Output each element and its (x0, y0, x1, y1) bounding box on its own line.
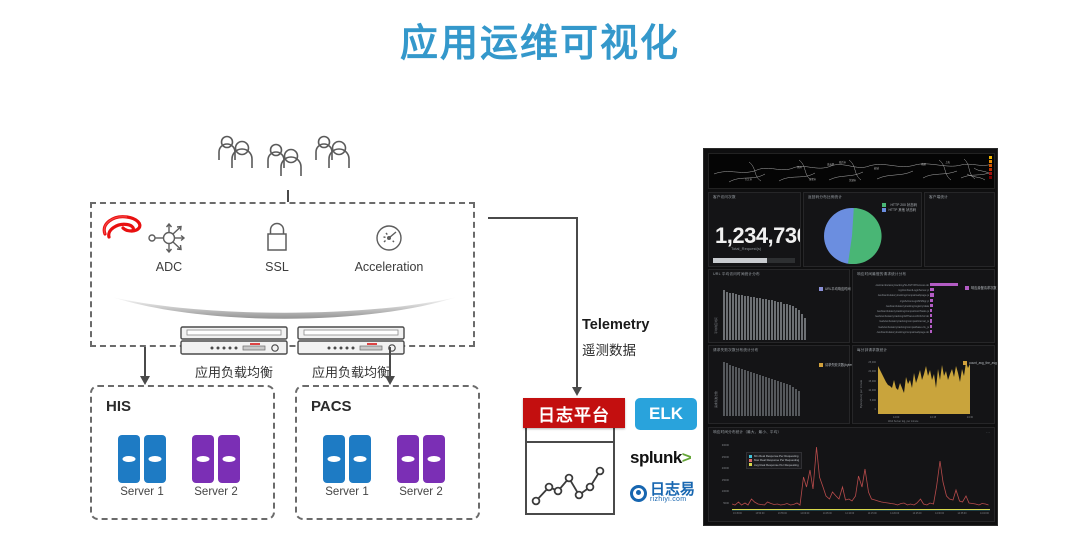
panel-response-time-title: 响应时间分布统计（最大、最小、平均） (713, 430, 781, 435)
group-pacs: PACS Server 1 Server 2 (295, 385, 480, 520)
panel-top-url-title: 响应时间最慢的请求统计分布 (857, 272, 906, 277)
telemetry-section: Telemetry 遥测数据 日志平台 ELK splunk> 日志易 rizh… (488, 105, 703, 535)
svg-text:上海: 上海 (945, 160, 950, 164)
log-chart-card (525, 425, 615, 515)
panel-error-dist[interactable]: 请求失败次数分布统计分布 请求失败次数 请求失败次数(bytes) (708, 345, 850, 424)
error-dist-bars (723, 360, 800, 416)
svg-text:盐城: 盐城 (874, 166, 879, 170)
dashboard-map-panel[interactable]: 九江市徐州连云港 临沂市盐城合肥市 南通上海芜湖市 (708, 153, 995, 189)
acceleration-gauge-icon (314, 218, 464, 258)
telemetry-arrowhead (572, 387, 582, 396)
feature-acceleration: Acceleration (314, 218, 464, 274)
group-pacs-title: PACS (311, 398, 352, 415)
pacs-server-1: Server 1 (319, 435, 375, 498)
svg-text:徐州: 徐州 (797, 165, 802, 169)
server-icon (144, 435, 166, 483)
log-dashboard-screenshot[interactable]: 九江市徐州连云港 临沂市盐城合肥市 南通上海芜湖市 客户访问次数 1,234,7… (703, 148, 998, 526)
traffic-volume-yticks: 25,00020,00015,00010,0005,0000 (863, 358, 876, 414)
svg-text:合肥市: 合肥市 (809, 177, 817, 181)
connector-pacs (389, 347, 391, 379)
elk-badge[interactable]: ELK (635, 398, 697, 430)
panel-scrollbar[interactable] (713, 258, 795, 263)
connector-his-arrowhead (140, 376, 150, 385)
telemetry-line-vertical (576, 217, 578, 389)
response-time-legend: Min Real Response Per Requesting Max Rea… (746, 452, 802, 469)
funnel-shape (112, 296, 457, 330)
status-share-pie-chart (821, 205, 883, 267)
panel-response-time-more-icon[interactable]: ··· (986, 430, 990, 435)
group-his: HIS Server 1 Server 2 (90, 385, 275, 520)
url-access-legend: URL平均响应时间 (819, 286, 851, 291)
panel-url-access-title: URL 平均访问时间统计分布 (713, 272, 760, 277)
panel-total-requests-title: 客户访问次数 (713, 195, 736, 200)
panel-traffic-volume-title: 每分钟请求数统计 (857, 348, 887, 353)
server-icon (192, 435, 214, 483)
response-time-yticks: 30000250002000015000100005000 (714, 440, 729, 509)
top-url-legend: 响应最慢请求次数 (965, 285, 997, 290)
server-icon (218, 435, 240, 483)
his-server-1-label: Server 1 (114, 486, 170, 498)
adc-container: ADC SSL (90, 202, 475, 347)
server-appliance-icon (180, 326, 288, 356)
splunk-chevron-icon: > (682, 448, 691, 467)
his-server-2-label: Server 2 (188, 486, 244, 498)
panel-response-time[interactable]: 响应时间分布统计（最大、最小、平均） ··· 30000250002000015… (708, 427, 995, 522)
log-platform-badge[interactable]: 日志平台 (523, 398, 625, 428)
panel-client-stats[interactable]: 客户端统计 (924, 192, 995, 267)
feature-adc: ADC (114, 218, 224, 274)
response-time-line-chart (732, 440, 990, 512)
line-chart-window-icon (527, 443, 609, 511)
top-url-category-labels: /web/ambulatorytracking/SLASTOP/Access.d… (857, 283, 929, 335)
map-color-legend (989, 156, 992, 180)
svg-text:临沂市: 临沂市 (839, 160, 847, 164)
panel-client-stats-title: 客户端统计 (929, 195, 948, 200)
connector-pacs-arrowhead (385, 376, 395, 385)
users-icon (215, 134, 355, 189)
url-access-ylabel: 平均响应时间 (714, 317, 718, 334)
pacs-server-2: Server 2 (393, 435, 449, 498)
page-title: 应用运维可视化 (0, 20, 1080, 68)
svg-text:连云港: 连云港 (827, 162, 835, 166)
panel-traffic-volume[interactable]: 每分钟请求数统计 Bytes(sum) per minute 25,00020,… (852, 345, 995, 424)
rizhiyi-mark-icon (630, 485, 647, 502)
response-time-xticks: 13:45:0013:50:0013:55:0014:00:0014:05:00… (733, 513, 989, 515)
his-server-1: Server 1 (114, 435, 170, 498)
pacs-server-2-label: Server 2 (393, 486, 449, 498)
telemetry-label-zh: 遥测数据 (582, 339, 636, 359)
url-access-bars (723, 284, 806, 340)
server-icon (118, 435, 140, 483)
adc-feature-row: ADC SSL (92, 218, 477, 288)
error-dist-ylabel: 请求失败次数 (714, 391, 718, 408)
status-share-legend: HTTP 200 状态码 HTTP 其他 状态码 (882, 203, 917, 213)
feature-acceleration-label: Acceleration (314, 260, 464, 274)
top-url-bars (930, 283, 958, 335)
slide-root: 应用运维可视化 (0, 0, 1080, 541)
rizhiyi-logo: 日志易 rizhiyi.com (630, 483, 695, 503)
server-icon (397, 435, 419, 483)
panel-status-share-title: 返回码分布比例统计 (808, 195, 842, 200)
panel-url-access[interactable]: URL 平均访问时间统计分布 平均响应时间 URL平均响应时间 (708, 269, 850, 343)
traffic-volume-legend: count_avg_the_avg... (963, 361, 998, 365)
panel-status-share[interactable]: 返回码分布比例统计 HTTP 200 状态码 HTTP 其他 状态码 (803, 192, 922, 267)
splunk-logo-text: splunk (630, 448, 682, 467)
load-balancer-1-label: 应用负载均衡 (180, 362, 288, 381)
panel-error-dist-title: 请求失败次数分布统计分布 (713, 348, 759, 353)
server-icon (423, 435, 445, 483)
traffic-volume-xticks: 14:0014:1514:30 (893, 416, 973, 419)
total-requests-caption: Total_Request(s) (731, 246, 761, 251)
telemetry-line-horizontal (488, 217, 578, 219)
traffic-volume-xlabel: Web Server log, per minute (888, 420, 918, 423)
his-server-2: Server 2 (188, 435, 244, 498)
pacs-server-1-label: Server 1 (319, 486, 375, 498)
telemetry-label-en: Telemetry (582, 317, 649, 333)
load-balancer-1: 应用负载均衡 (180, 326, 288, 381)
error-dist-legend: 请求失败次数(bytes) (819, 362, 854, 367)
svg-text:九江市: 九江市 (745, 177, 753, 181)
splunk-logo: splunk> (630, 448, 691, 468)
rizhiyi-logo-text: 日志易 (650, 483, 695, 496)
svg-text:芜湖市: 芜湖市 (849, 178, 857, 182)
log-chart-card-titlebar (527, 427, 613, 443)
panel-total-requests[interactable]: 客户访问次数 1,234,730 Total_Request(s) (708, 192, 801, 267)
traffic-volume-area-chart (878, 359, 970, 414)
feature-adc-label: ADC (114, 260, 224, 274)
server-icon (323, 435, 345, 483)
panel-top-url[interactable]: 响应时间最慢的请求统计分布 /web/ambulatorytracking/SL… (852, 269, 995, 343)
connector-his (144, 347, 146, 379)
group-his-title: HIS (106, 398, 131, 415)
server-icon (349, 435, 371, 483)
adc-distribution-icon (114, 218, 224, 258)
svg-text:南通: 南通 (921, 162, 926, 166)
